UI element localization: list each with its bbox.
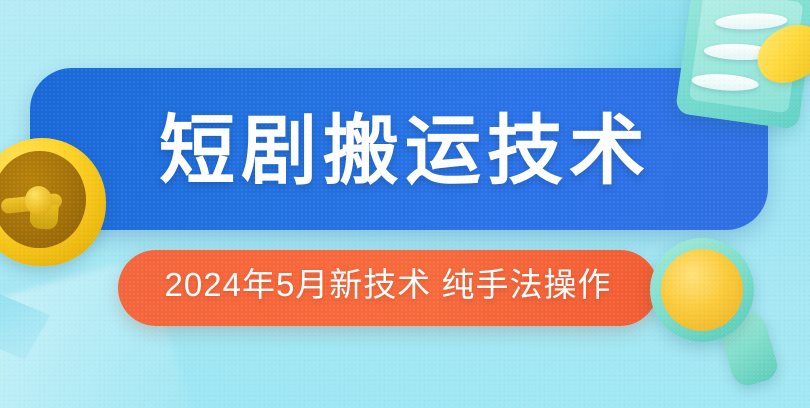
magnifier-ring <box>650 238 754 342</box>
magnifier-lens <box>661 249 743 331</box>
bell-clapper-ball <box>25 186 53 215</box>
page-title: 短剧搬运技术 <box>0 114 810 190</box>
page-subtitle: 2024年5月新技术 纯手法操作 <box>118 268 658 301</box>
magnifier-icon <box>650 238 798 380</box>
promo-poster: 短剧搬运技术 2024年5月新技术 纯手法操作 <box>0 0 810 408</box>
plate-icon <box>675 0 810 130</box>
